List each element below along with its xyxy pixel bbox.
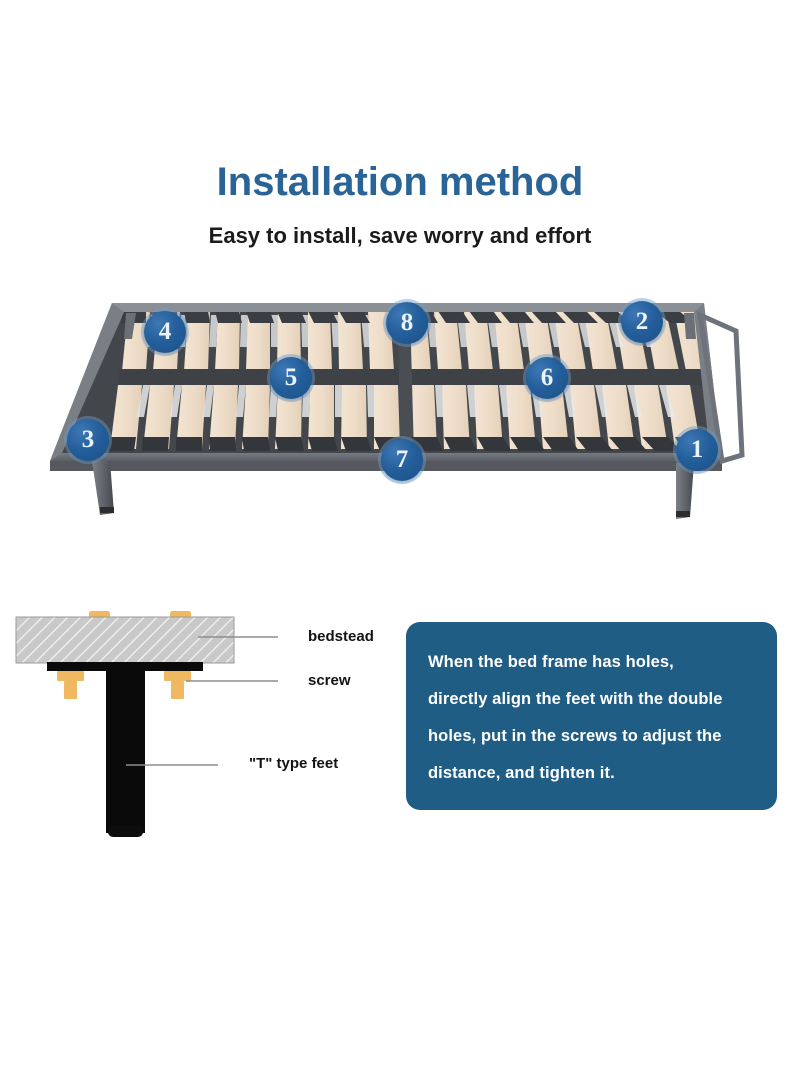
callout-badge-1[interactable]: 1 [676, 429, 718, 471]
bed-center-beam [118, 369, 708, 385]
page-subtitle: Easy to install, save worry and effort [0, 223, 800, 249]
t-foot-cap [108, 825, 143, 837]
callout-badge-5[interactable]: 5 [270, 357, 312, 399]
instruction-note-box: When the bed frame has holes, directly a… [406, 622, 777, 810]
callout-badge-4[interactable]: 4 [144, 311, 186, 353]
note-line-1: When the bed frame has holes, [428, 644, 755, 681]
bed-leg-front-right [676, 463, 694, 519]
callout-badge-7[interactable]: 7 [381, 439, 423, 481]
label-bedstead: bedstead [308, 628, 374, 645]
label-screw: screw [308, 672, 351, 689]
bedstead-block [16, 617, 234, 663]
callout-badge-3[interactable]: 3 [67, 419, 109, 461]
callout-badge-2[interactable]: 2 [621, 301, 663, 343]
note-line-2: directly align the feet with the double [428, 681, 755, 718]
note-line-3: holes, put in the screws to adjust the [428, 718, 755, 755]
bed-leg-back-right [684, 313, 696, 339]
page-title: Installation method [0, 160, 800, 205]
note-line-4: distance, and tighten it. [428, 755, 755, 792]
label-t-type-feet: "T" type feet [249, 755, 338, 772]
callout-badge-6[interactable]: 6 [526, 357, 568, 399]
t-foot-column [106, 667, 145, 833]
callout-badge-8[interactable]: 8 [386, 302, 428, 344]
